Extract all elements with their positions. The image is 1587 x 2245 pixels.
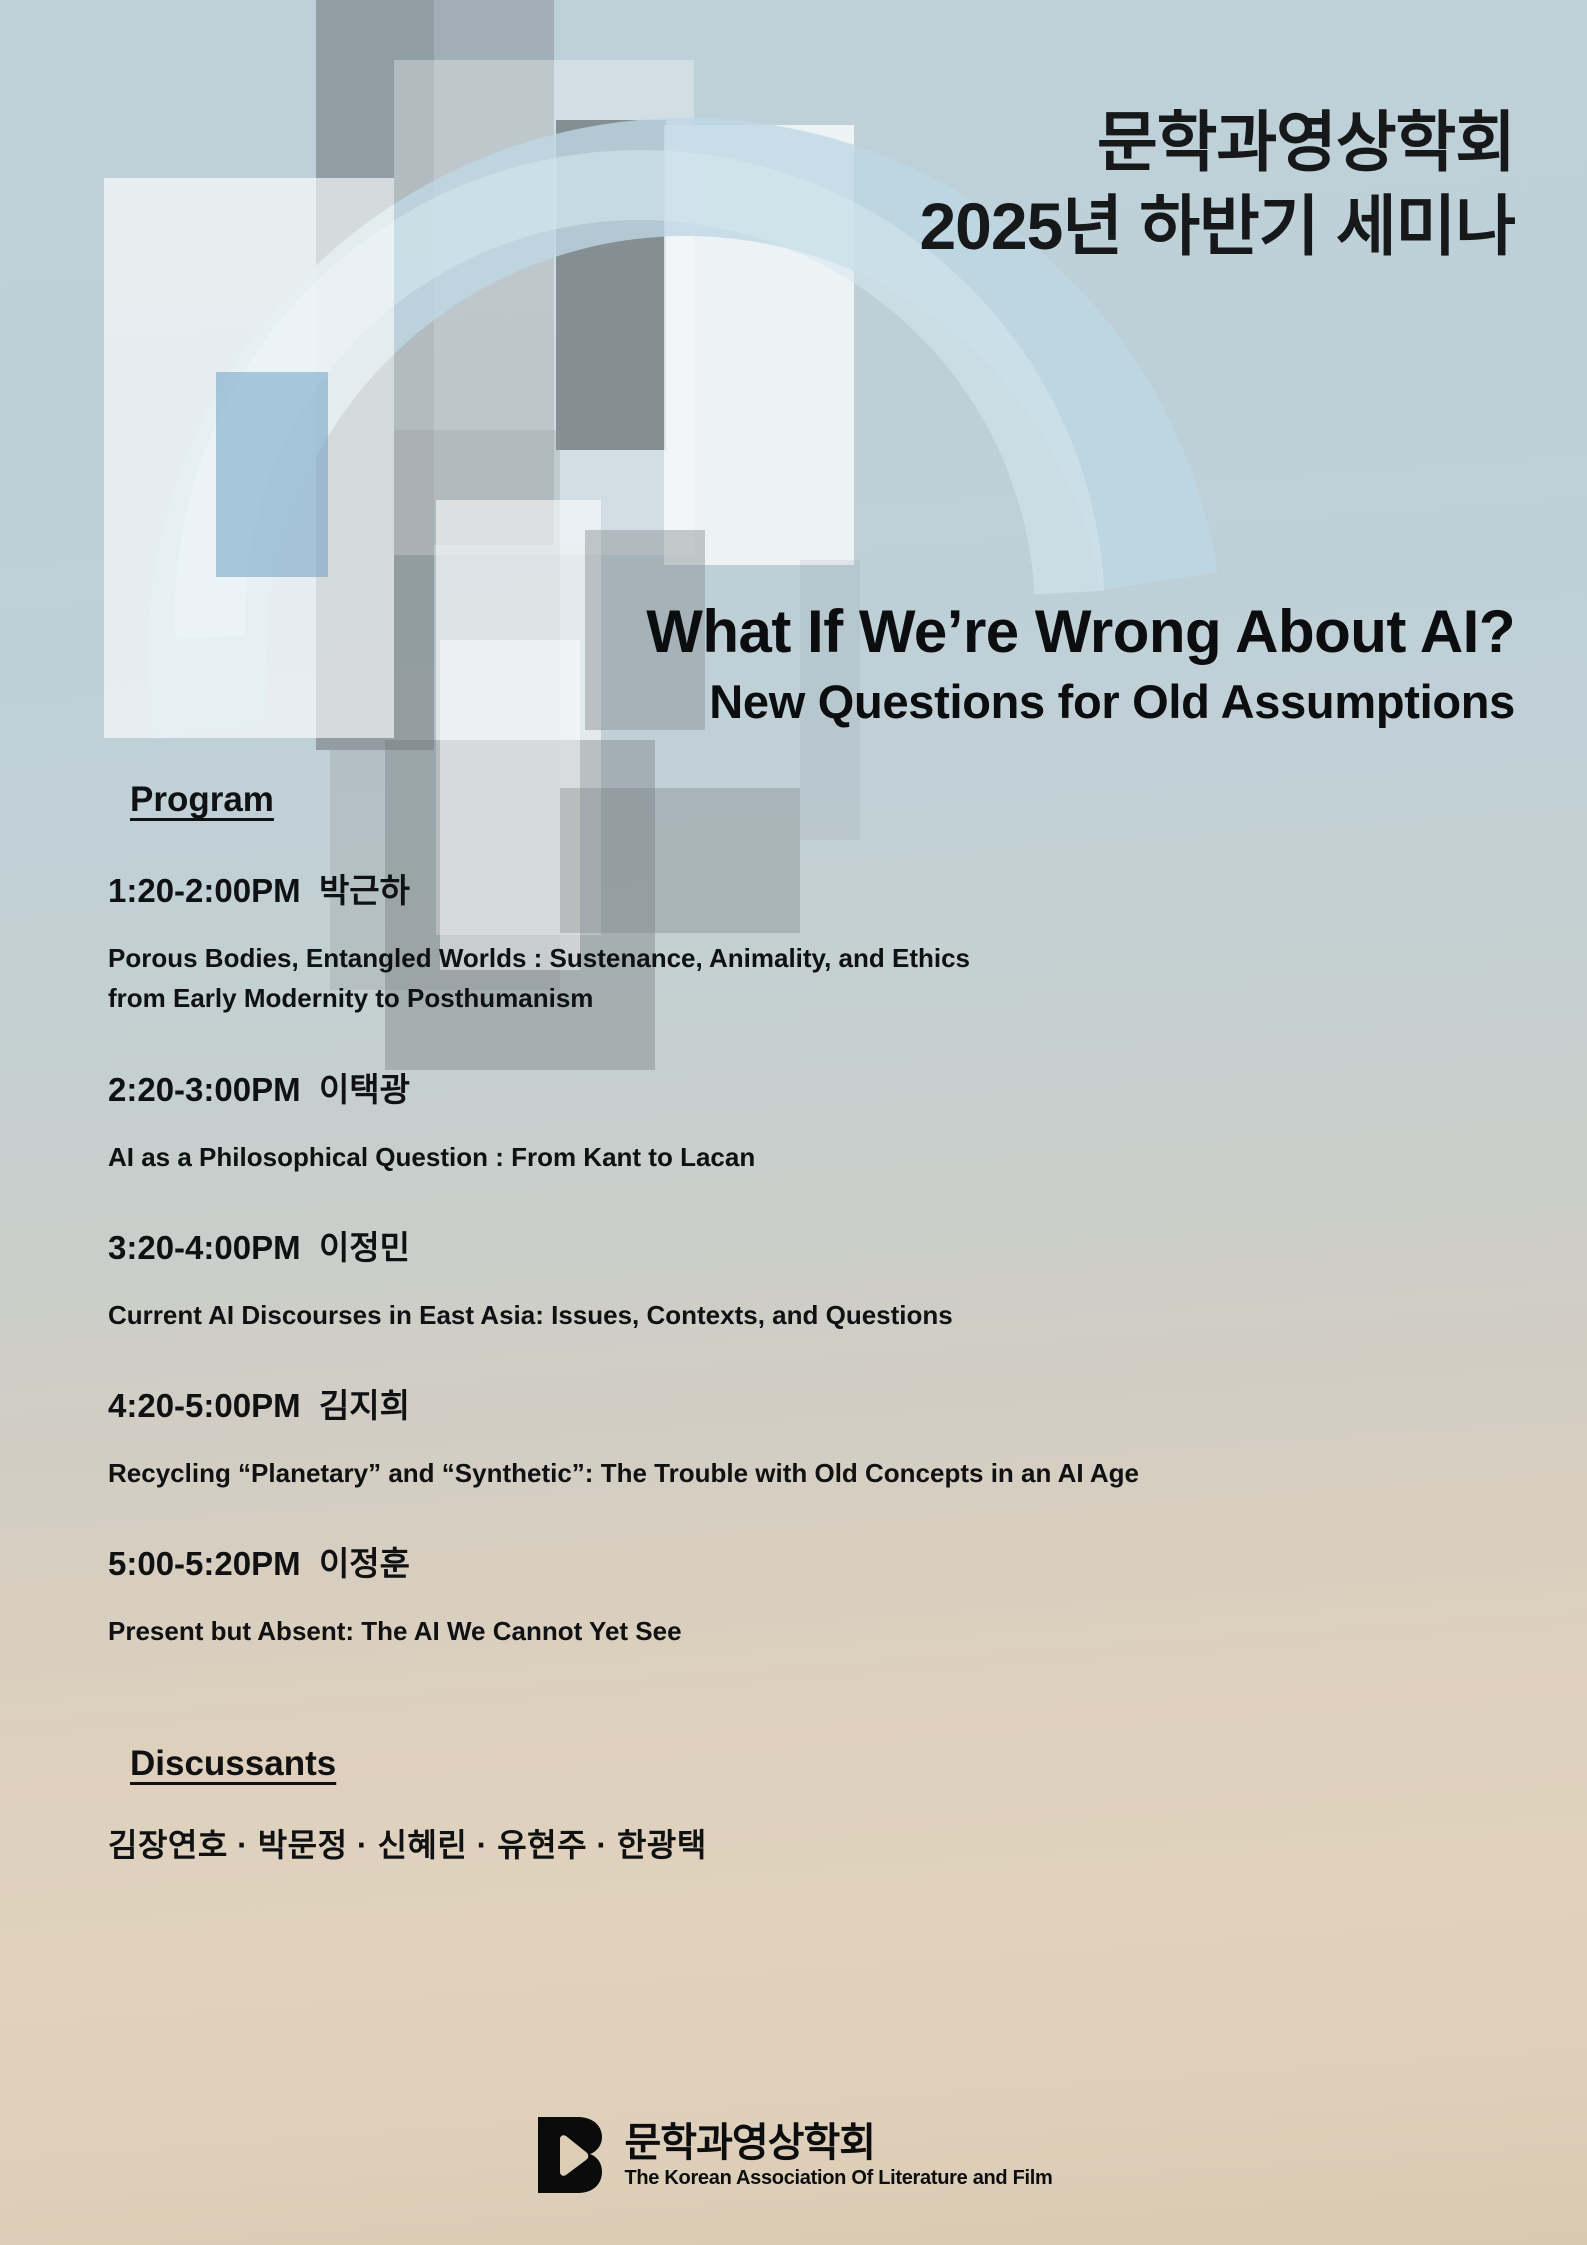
deco-rectangle: [664, 125, 854, 565]
association-name-en: The Korean Association Of Literature and…: [624, 2168, 1052, 2188]
deco-rectangle: [556, 120, 666, 450]
association-logo-icon: [534, 2113, 606, 2197]
header-line-2: 2025년 하반기 세미나: [919, 184, 1515, 268]
session-speaker: 이정민: [319, 1229, 410, 1266]
poster-header: 문학과영상학회 2025년 하반기 세미나: [919, 100, 1515, 269]
session-time: 2:20-3:00PM: [108, 1071, 301, 1108]
session-item: 4:20-5:00PM 김지희 Recycling “Planetary” an…: [112, 1379, 1532, 1493]
session-item: 5:00-5:20PM 이정훈 Present but Absent: The …: [112, 1537, 1532, 1651]
deco-rectangle-blue: [216, 372, 328, 577]
session-time: 5:00-5:20PM: [108, 1545, 301, 1582]
session-time-speaker: 5:00-5:20PM 이정훈: [108, 1537, 1532, 1585]
session-speaker: 김지희: [319, 1387, 410, 1424]
session-time-speaker: 3:20-4:00PM 이정민: [108, 1221, 1532, 1269]
association-name-kr: 문학과영상학회: [624, 2123, 1052, 2163]
association-name-block: 문학과영상학회 The Korean Association Of Litera…: [624, 2123, 1052, 2188]
session-item: 1:20-2:00PM 박근하 Porous Bodies, Entangled…: [112, 864, 1532, 1019]
deco-rectangle: [394, 60, 694, 555]
session-title: Recycling “Planetary” and “Synthetic”: T…: [108, 1453, 1532, 1493]
header-line-1: 문학과영상학회: [919, 100, 1515, 184]
session-title: AI as a Philosophical Question : From Ka…: [108, 1137, 1532, 1177]
session-title-line: Present but Absent: The AI We Cannot Yet…: [108, 1611, 1532, 1651]
session-title: Current AI Discourses in East Asia: Issu…: [108, 1295, 1532, 1335]
session-title-line: AI as a Philosophical Question : From Ka…: [108, 1137, 1532, 1177]
session-speaker: 이정훈: [319, 1545, 410, 1582]
session-speaker: 이택광: [319, 1071, 410, 1108]
session-time-speaker: 2:20-3:00PM 이택광: [108, 1063, 1532, 1111]
program-heading: Program: [130, 780, 1532, 820]
session-item: 3:20-4:00PM 이정민 Current AI Discourses in…: [112, 1221, 1532, 1335]
deco-rectangle: [434, 0, 554, 545]
session-title-line: Current AI Discourses in East Asia: Issu…: [108, 1295, 1532, 1335]
session-title: Present but Absent: The AI We Cannot Yet…: [108, 1611, 1532, 1651]
session-time: 3:20-4:00PM: [108, 1229, 301, 1266]
session-time-speaker: 4:20-5:00PM 김지희: [108, 1379, 1532, 1427]
program-section: Program 1:20-2:00PM 박근하 Porous Bodies, E…: [112, 780, 1532, 1866]
session-time: 1:20-2:00PM: [108, 872, 301, 909]
session-item: 2:20-3:00PM 이택광 AI as a Philosophical Qu…: [112, 1063, 1532, 1177]
session-title-line: Recycling “Planetary” and “Synthetic”: T…: [108, 1453, 1532, 1493]
discussants-list: 김장연호 · 박문정 · 신혜린 · 유현주 · 한광택: [108, 1820, 1532, 1866]
session-title: Porous Bodies, Entangled Worlds : Susten…: [108, 938, 1532, 1019]
session-speaker: 박근하: [319, 872, 410, 909]
page-subtitle: New Questions for Old Assumptions: [0, 677, 1515, 726]
page-title: What If We’re Wrong About AI?: [0, 600, 1515, 663]
seminar-poster: 문학과영상학회 2025년 하반기 세미나 What If We’re Wron…: [0, 0, 1587, 2245]
session-title-line: from Early Modernity to Posthumanism: [108, 978, 1532, 1018]
session-title-line: Porous Bodies, Entangled Worlds : Susten…: [108, 938, 1532, 978]
title-block: What If We’re Wrong About AI? New Questi…: [0, 600, 1515, 726]
discussants-heading: Discussants: [130, 1744, 1532, 1784]
session-time: 4:20-5:00PM: [108, 1387, 301, 1424]
footer-logo: 문학과영상학회 The Korean Association Of Litera…: [0, 2113, 1587, 2197]
session-time-speaker: 1:20-2:00PM 박근하: [108, 864, 1532, 912]
